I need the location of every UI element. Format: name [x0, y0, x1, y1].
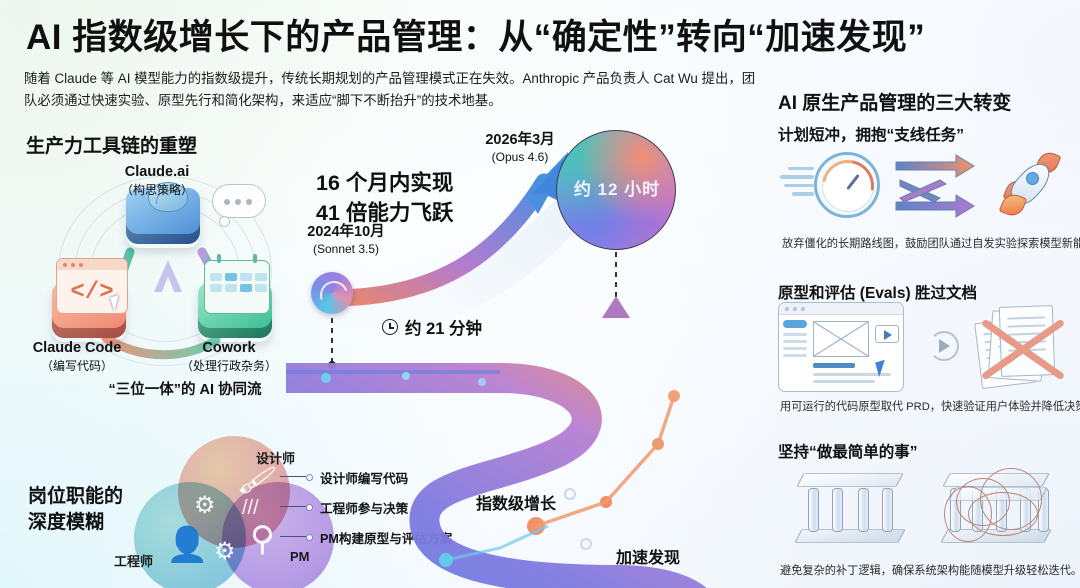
- section-title-venn: 岗位职能的 深度模糊: [28, 484, 123, 536]
- tool-name: Cowork: [166, 340, 292, 356]
- section-title-toolchain: 生产力工具链的重塑: [26, 131, 197, 158]
- end-duration-text: 约 12 小时: [557, 175, 677, 200]
- tool-role: （编写代码）: [8, 357, 146, 374]
- venn-title-line2: 深度模糊: [28, 512, 104, 533]
- start-duration-label: 约 21 分钟: [382, 315, 482, 339]
- gear-icon: ⚙: [214, 540, 236, 564]
- speedometer-icon: [814, 152, 880, 218]
- shift-icons-3: [778, 460, 1074, 560]
- headline-line1: 16 个月内实现: [316, 171, 453, 195]
- code-slash-icon: ///: [242, 498, 259, 518]
- venn-title-line1: 岗位职能的: [28, 486, 123, 507]
- start-date: 2024年10月: [291, 220, 401, 241]
- shift-icons-1: [778, 148, 1074, 230]
- crossed-out-document-icon: [974, 302, 1070, 392]
- start-duration-text: 约 21 分钟: [405, 315, 482, 339]
- trinity-caption: “三位一体”的 AI 协同流: [60, 378, 310, 399]
- tool-label-claude-code: Claude Code （编写代码）: [8, 340, 146, 374]
- tool-name: Claude Code: [8, 340, 146, 356]
- shift-caption-1: 放弃僵化的长期路线图，鼓励团队通过自发实验探索模型新能力。: [782, 235, 1080, 251]
- clock-icon: [382, 319, 398, 335]
- calendar-icon: [204, 260, 270, 314]
- shift-icons-2: [778, 302, 1074, 394]
- page-subtitle: 随着 Claude 等 AI 模型能力的指数级提升，传统长期规划的产品管理模式正…: [24, 68, 760, 112]
- tool-label-cowork: Cowork （处理行政杂务）: [166, 340, 292, 374]
- venn-label-engineer: 工程师: [114, 551, 153, 570]
- tool-role: （处理行政杂务）: [166, 357, 292, 374]
- tool-name: Claude.ai: [92, 164, 222, 180]
- anthropic-logo-icon: [146, 256, 190, 296]
- speed-lines-icon: [778, 162, 814, 201]
- gear-icon: ⚙: [194, 494, 216, 518]
- rocket-icon: [998, 150, 1070, 222]
- page-title: AI 指数级增长下的产品管理：从“确定性”转向“加速发现”: [26, 9, 1060, 60]
- tangled-temple-icon: [938, 460, 1058, 556]
- refresh-cycle-icon: [924, 326, 964, 366]
- start-label: 2024年10月 (Sonnet 3.5): [291, 220, 401, 256]
- tool-role: （构思策略）: [92, 181, 222, 198]
- shift-heading-1: 计划短冲，拥抱“支线任务”: [778, 123, 964, 145]
- simple-temple-icon: [792, 460, 912, 556]
- crossing-arrows-icon: [894, 150, 982, 226]
- chart-headline: 16 个月内实现 41 倍能力飞跃: [316, 168, 566, 228]
- start-model-icon: [311, 272, 353, 314]
- end-duration-bubble: 约 12 小时: [556, 130, 676, 250]
- tool-label-claude-ai: Claude.ai （构思策略）: [92, 164, 222, 198]
- curve-label-discovery: 加速发现: [616, 544, 680, 568]
- start-model: (Sonnet 3.5): [291, 242, 401, 256]
- person-icon: 👤: [166, 528, 208, 562]
- shift-heading-2: 原型和评估 (Evals) 胜过文档: [778, 281, 977, 303]
- x-cross-icon: [978, 306, 1068, 390]
- shift-caption-3: 避免复杂的补丁逻辑，确保系统架构能随模型升级轻松迭代。: [780, 562, 1080, 578]
- growth-chart: 16 个月内实现 41 倍能力飞跃 2024年10月 (Sonnet 3.5) …: [286, 110, 706, 588]
- end-label: 2026年3月 (Opus 4.6): [460, 128, 580, 164]
- shift-heading-3: 坚持“做最简单的事”: [778, 440, 918, 462]
- curve-label-exponential: 指数级增长: [476, 490, 556, 514]
- infographic-root: AI 指数级增长下的产品管理：从“确定性”转向“加速发现” 随着 Claude …: [0, 0, 1080, 588]
- end-date: 2026年3月: [460, 128, 580, 149]
- shift-caption-2: 用可运行的代码原型取代 PRD，快速验证用户体验并降低决策成本。: [780, 398, 1080, 414]
- section-title-shifts: AI 原生产品管理的三大转变: [778, 88, 1011, 115]
- paintbrush-icon: 🖌: [236, 463, 278, 498]
- search-icon: ⚲: [250, 522, 275, 556]
- browser-mockup-icon: [778, 302, 904, 392]
